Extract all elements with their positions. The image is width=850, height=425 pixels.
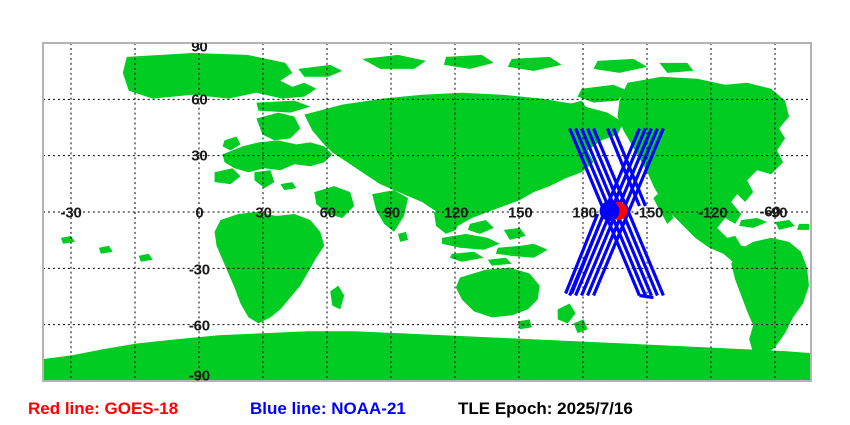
lon-tick-minus-120: -120 [698, 206, 727, 221]
noaa21-position-marker [600, 201, 620, 221]
lon-tick-90: 90 [384, 206, 400, 221]
lat-tick-minus-60: -60 [189, 319, 210, 334]
lat-tick-60: 60 [191, 92, 207, 107]
lat-tick-90: 90 [191, 42, 207, 55]
legend-tle-epoch: TLE Epoch: 2025/7/16 [458, 400, 633, 417]
lon-tick-minus-30: -30 [61, 206, 82, 221]
lat-tick-minus-90: -90 [189, 369, 210, 383]
lon-tick-minus-60: -60 [759, 205, 780, 220]
lon-tick-120: 120 [444, 206, 468, 221]
lon-tick-60: 60 [320, 206, 336, 221]
lon-tick-minus-150: -150 [634, 206, 663, 221]
lon-tick-30: 30 [255, 206, 271, 221]
lat-tick-30: 30 [191, 149, 207, 164]
legend: Red line: GOES-18 Blue line: NOAA-21 TLE… [0, 396, 850, 425]
map-canvas [43, 43, 811, 381]
lon-tick-150: 150 [508, 206, 532, 221]
landmass-layer [43, 53, 811, 381]
world-map: 90 60 30 -30 -60 -90 -30 0 30 60 90 120 … [42, 42, 812, 382]
lon-tick-0: 0 [195, 206, 203, 221]
legend-blue-line-noaa21: Blue line: NOAA-21 [250, 400, 406, 417]
lat-tick-minus-30: -30 [189, 262, 210, 277]
lon-tick-180: 180 [572, 206, 596, 221]
legend-red-line-goes18: Red line: GOES-18 [28, 400, 178, 417]
satellite-tracking-map: 90 60 30 -30 -60 -90 -30 0 30 60 90 120 … [0, 0, 850, 425]
